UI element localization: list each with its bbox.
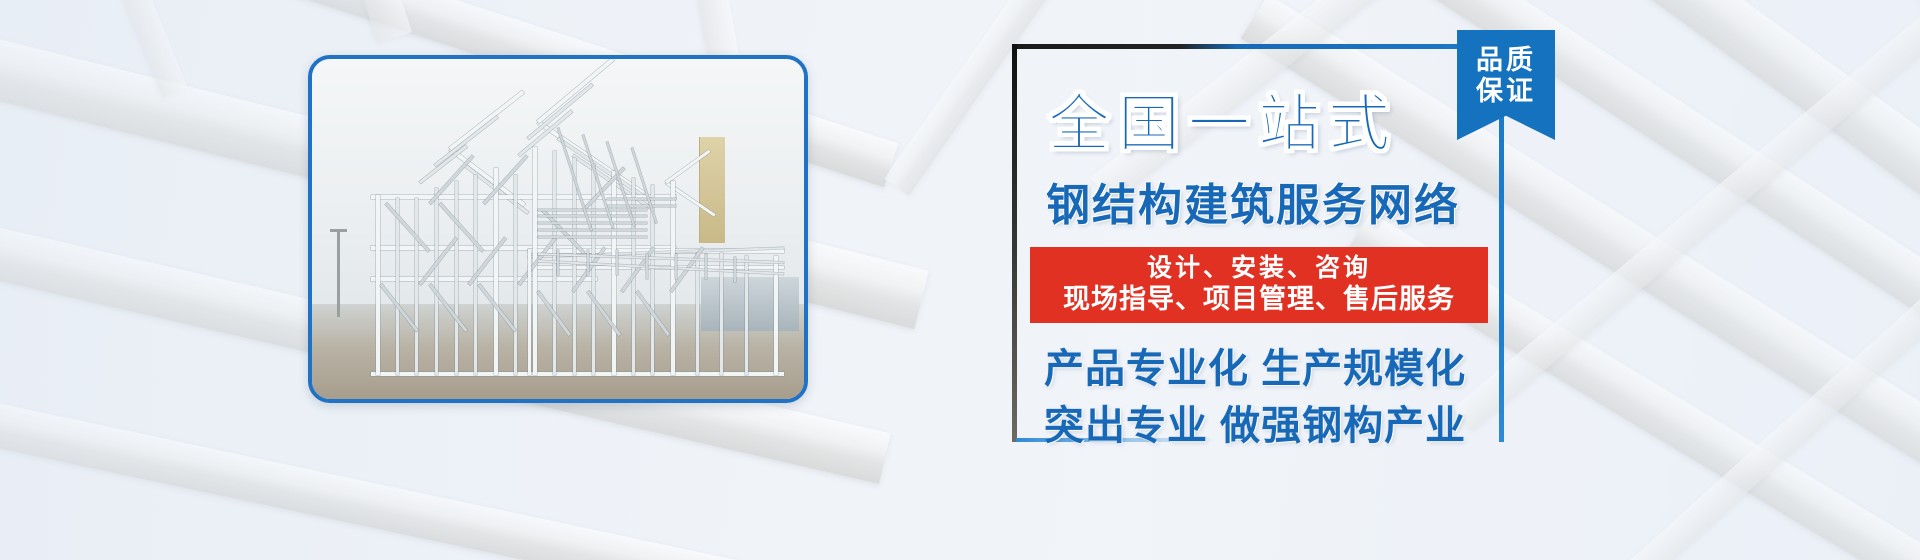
tagline-second: 突出专业 做强钢构产业 [1044,393,1466,451]
project-photo-card [308,55,808,403]
frame-border-top [1012,44,1504,49]
ribbon-line-1: 品质 [1476,46,1536,74]
promo-banner: 全国一站式 钢结构建筑服务网络 设计、安装、咨询 现场指导、项目管理、售后服务 … [0,0,1920,560]
tagline-first: 产品专业化 生产规模化 [1044,336,1466,394]
steel-frame-house-photo [312,59,804,399]
photo-steel-framing [312,59,804,399]
service-line-1: 设计、安装、咨询 [1147,255,1371,283]
background-wash [0,0,1920,560]
promo-text-panel: 全国一站式 钢结构建筑服务网络 设计、安装、咨询 现场指导、项目管理、售后服务 … [1012,44,1504,442]
ribbon-line-2: 保证 [1476,77,1536,105]
service-list-box: 设计、安装、咨询 现场指导、项目管理、售后服务 [1030,247,1488,323]
headline-main: 全国一站式 [1048,94,1398,156]
headline-sub: 钢结构建筑服务网络 [1046,184,1460,228]
frame-border-left [1012,44,1017,442]
service-line-2: 现场指导、项目管理、售后服务 [1063,285,1455,315]
